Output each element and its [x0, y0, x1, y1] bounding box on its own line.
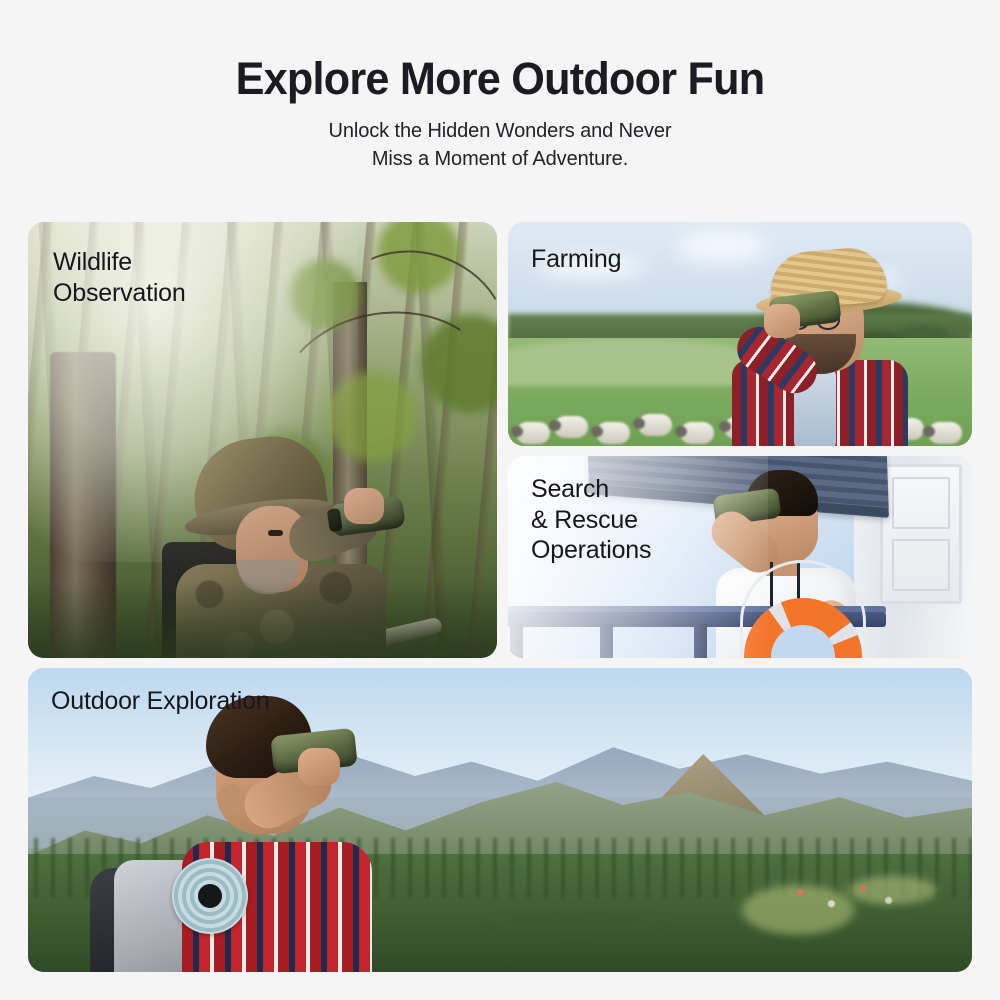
- rolled-sleeping-mat: [172, 858, 248, 934]
- observer-hand: [344, 488, 384, 524]
- sheep: [596, 422, 630, 444]
- card-wildlife-observation[interactable]: Wildlife Observation: [28, 222, 497, 658]
- page-subtitle-line-1: Unlock the Hidden Wonders and Never: [0, 118, 1000, 146]
- farmer-figure: [724, 242, 914, 446]
- card-label-wildlife: Wildlife Observation: [53, 247, 186, 308]
- card-farming[interactable]: Farming: [508, 222, 972, 446]
- use-case-card-grid: Wildlife Observation: [28, 222, 972, 972]
- monocular-lens: [327, 508, 343, 533]
- card-label-search-rescue: Search & Rescue Operations: [531, 474, 651, 566]
- hiker-hand: [298, 748, 340, 786]
- card-label-outdoor-exploration: Outdoor Exploration: [51, 686, 270, 717]
- sheep: [680, 422, 714, 444]
- observer-eye: [268, 530, 283, 536]
- page-subtitle-line-2: Miss a Moment of Adventure.: [0, 146, 1000, 174]
- card-outdoor-exploration[interactable]: Outdoor Exploration: [28, 668, 972, 972]
- hiker-ear: [218, 784, 244, 816]
- sheep: [638, 414, 672, 436]
- sheep: [554, 416, 588, 438]
- page-title: Explore More Outdoor Fun: [20, 0, 980, 101]
- page-header: Explore More Outdoor Fun Unlock the Hidd…: [0, 0, 1000, 173]
- forest-floor: [28, 580, 497, 658]
- card-search-and-rescue[interactable]: Search & Rescue Operations: [508, 456, 972, 658]
- sheep: [928, 422, 962, 444]
- sheep: [516, 422, 550, 444]
- page-subtitle: Unlock the Hidden Wonders and Never Miss…: [0, 118, 1000, 173]
- card-label-farming: Farming: [531, 244, 621, 275]
- hiker-figure: [96, 692, 426, 972]
- promo-page: Explore More Outdoor Fun Unlock the Hidd…: [0, 0, 1000, 1000]
- distant-village: [782, 876, 912, 918]
- farmer-hand: [764, 304, 800, 338]
